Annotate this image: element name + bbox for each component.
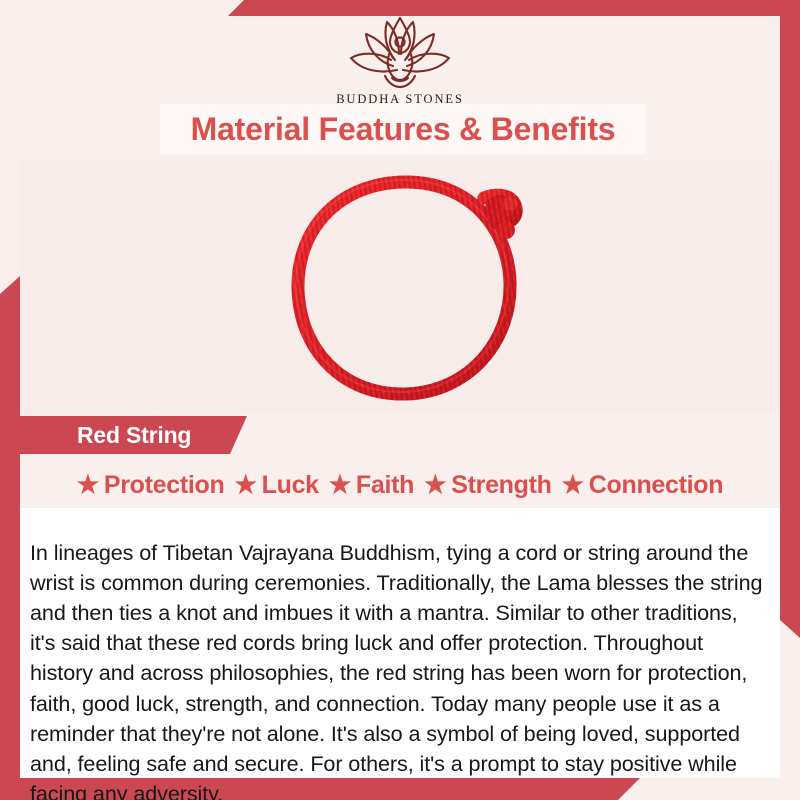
benefit-label: Connection	[589, 471, 724, 500]
benefit-label: Faith	[356, 471, 414, 500]
product-image-area	[20, 160, 780, 412]
brand-logo: BUDDHA STONES	[0, 12, 800, 107]
star-icon: ★	[329, 473, 351, 498]
description-text: In lineages of Tibetan Vajrayana Buddhis…	[30, 538, 764, 800]
product-label-banner: Red String	[20, 416, 247, 454]
benefit-item: ★ Strength	[424, 471, 552, 500]
description-panel: In lineages of Tibetan Vajrayana Buddhis…	[20, 508, 780, 778]
benefit-label: Strength	[451, 471, 551, 500]
benefit-item: ★ Connection	[562, 471, 724, 500]
star-icon: ★	[424, 473, 446, 498]
title-banner: Material Features & Benefits	[160, 104, 646, 154]
benefit-item: ★ Protection	[77, 471, 225, 500]
benefit-label: Luck	[262, 471, 319, 500]
star-icon: ★	[562, 473, 584, 498]
header: BUDDHA STONES Material Features & Benefi…	[0, 0, 800, 160]
benefit-item: ★ Luck	[235, 471, 319, 500]
star-icon: ★	[77, 473, 99, 498]
product-label: Red String	[20, 422, 191, 449]
benefit-label: Protection	[104, 471, 225, 500]
page-title: Material Features & Benefits	[191, 111, 616, 148]
lotus-meditation-icon	[335, 12, 465, 90]
decorative-band-left	[0, 276, 20, 800]
benefits-row: ★ Protection ★ Luck ★ Faith ★ Strength ★…	[20, 463, 780, 508]
red-string-braided-bracelet-image	[256, 168, 556, 421]
benefit-item: ★ Faith	[329, 471, 414, 500]
star-icon: ★	[235, 473, 257, 498]
infographic-card: BUDDHA STONES Material Features & Benefi…	[0, 0, 800, 800]
